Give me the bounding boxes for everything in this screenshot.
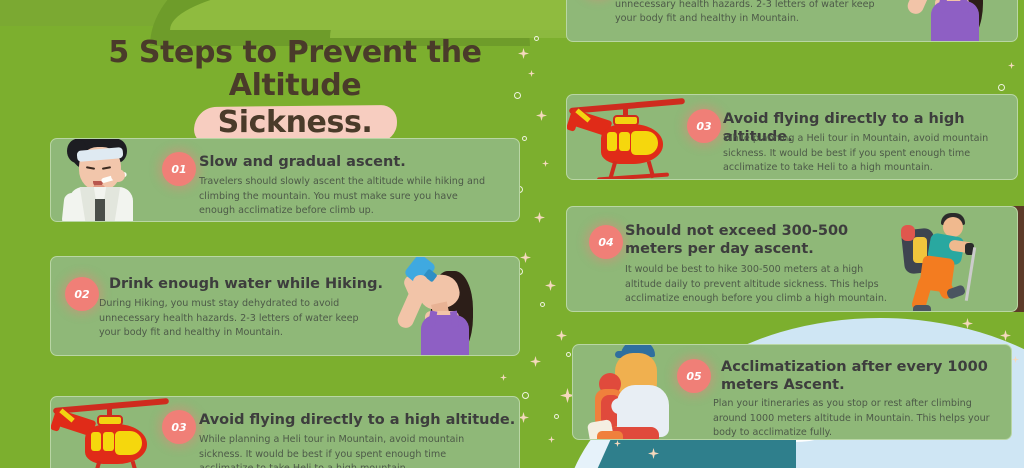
step-number-badge: 05 bbox=[677, 359, 711, 393]
step-number-badge: 01 bbox=[162, 152, 196, 186]
step-card-01[interactable]: 01 Slow and gradual ascent. Travelers sh… bbox=[50, 138, 520, 222]
step-heading: Drink enough water while Hiking. bbox=[109, 275, 399, 293]
title-highlight: Sickness. bbox=[194, 104, 397, 143]
helicopter-illustration bbox=[51, 396, 171, 468]
step-body: During Hiking, you must stay dehydrated … bbox=[615, 0, 895, 27]
step-body: During Hiking, you must stay dehydrated … bbox=[99, 297, 379, 341]
title-line-1: 5 Steps to Prevent the Altitude bbox=[60, 36, 530, 102]
step-card-05[interactable]: 05 Acclimatization after every 1000 mete… bbox=[572, 344, 1012, 440]
page-title: 5 Steps to Prevent the Altitude Sickness… bbox=[60, 36, 530, 143]
step-card-04[interactable]: 04 Should not exceed 300-500 meters per … bbox=[566, 206, 1018, 312]
couple-illustration bbox=[587, 344, 697, 440]
step-card-02-right[interactable]: 02 Drink enough water while Hiking. Duri… bbox=[566, 0, 1018, 42]
step-heading: Slow and gradual ascent. bbox=[199, 153, 509, 171]
climber-illustration bbox=[887, 209, 1017, 312]
step-card-03-left[interactable]: 03 Avoid flying directly to a high altit… bbox=[50, 396, 520, 468]
step-number-badge: 04 bbox=[589, 225, 623, 259]
drinking-woman-illustration bbox=[387, 256, 491, 356]
drinking-woman-illustration bbox=[897, 0, 1001, 42]
step-number-badge: 03 bbox=[687, 109, 721, 143]
step-heading: Should not exceed 300-500 meters per day… bbox=[625, 222, 875, 258]
step-card-02[interactable]: 02 Drink enough water while Hiking. Duri… bbox=[50, 256, 520, 356]
step-body: While planning a Heli tour in Mountain, … bbox=[199, 433, 479, 468]
step-body: It would be best to hike 300-500 meters … bbox=[625, 263, 893, 307]
helicopter-illustration bbox=[567, 94, 687, 180]
step-body: Travelers should slowly ascent the altit… bbox=[199, 175, 493, 219]
step-card-03-right[interactable]: 03 Avoid flying directly to a high altit… bbox=[566, 94, 1018, 180]
step-heading: Avoid flying directly to a high altitude… bbox=[199, 411, 519, 429]
title-line-2: Sickness. bbox=[218, 105, 373, 140]
step-body: While planning a Heli tour in Mountain, … bbox=[723, 132, 993, 176]
step-number-badge: 03 bbox=[162, 410, 196, 444]
sick-person-illustration bbox=[57, 138, 149, 222]
step-body: Plan your itineraries as you stop or res… bbox=[713, 397, 1003, 440]
step-heading: Acclimatization after every 1000 meters … bbox=[721, 358, 1001, 394]
step-number-badge: 02 bbox=[65, 277, 99, 311]
